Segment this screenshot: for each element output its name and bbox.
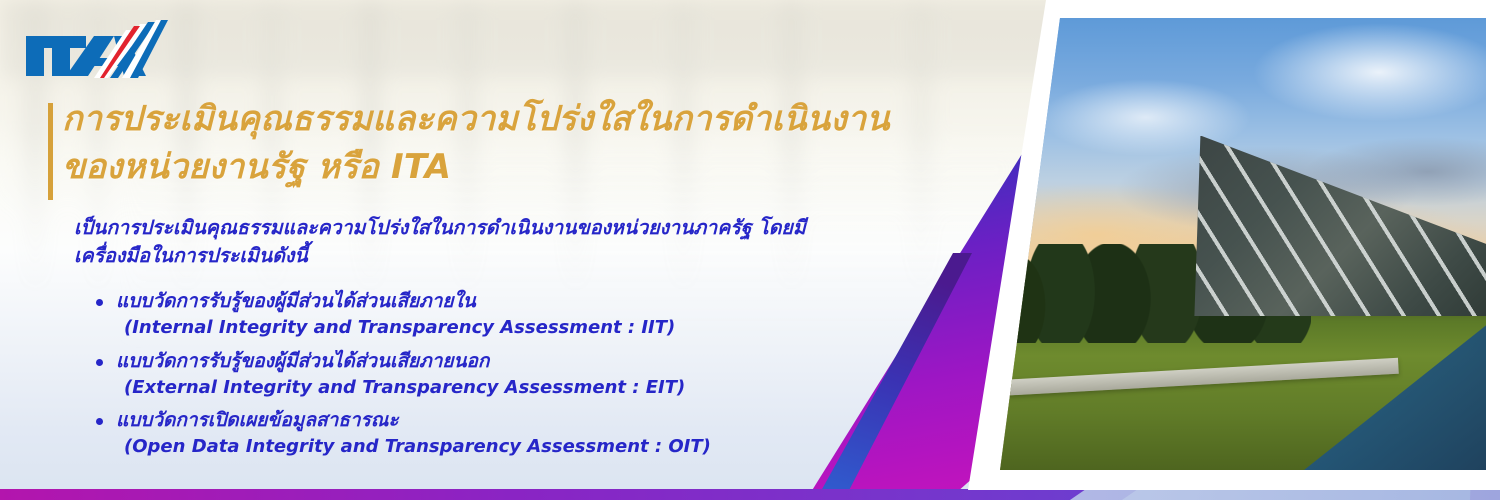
banner-content: การประเมินคุณธรรมและความโปร่งใสในการดำเน… bbox=[0, 0, 980, 500]
list-item: แบบวัดการเปิดเผยข้อมูลสาธารณะ (Open Data… bbox=[88, 407, 948, 461]
ita-banner: การประเมินคุณธรรมและความโปร่งใสในการดำเน… bbox=[0, 0, 1500, 500]
list-item-english: (Open Data Integrity and Transparency As… bbox=[116, 434, 948, 461]
ita-logo-mark bbox=[22, 18, 182, 84]
list-item-english: (External Integrity and Transparency Ass… bbox=[116, 375, 948, 402]
headline-line-2: ของหน่วยงานรัฐ หรือ ITA bbox=[62, 144, 982, 192]
lead-line-2: เครื่องมือในการประเมินดังนี้ bbox=[74, 242, 954, 270]
bottom-strip-right bbox=[1070, 489, 1500, 500]
list-item-thai: แบบวัดการเปิดเผยข้อมูลสาธารณะ bbox=[116, 407, 948, 434]
list-item: แบบวัดการรับรู้ของผู้มีส่วนได้ส่วนเสียภา… bbox=[88, 288, 948, 342]
lead-line-1: เป็นการประเมินคุณธรรมและความโปร่งใสในการ… bbox=[74, 214, 954, 242]
assessment-tool-list: แบบวัดการรับรู้ของผู้มีส่วนได้ส่วนเสียภา… bbox=[88, 288, 948, 467]
list-item-english: (Internal Integrity and Transparency Ass… bbox=[116, 315, 948, 342]
headline-line-1: การประเมินคุณธรรมและความโปร่งใสในการดำเน… bbox=[62, 96, 982, 144]
headline-accent-bar bbox=[48, 103, 53, 200]
ita-logo[interactable] bbox=[22, 18, 182, 84]
list-item-thai: แบบวัดการรับรู้ของผู้มีส่วนได้ส่วนเสียภา… bbox=[116, 288, 948, 315]
lead-paragraph: เป็นการประเมินคุณธรรมและความโปร่งใสในการ… bbox=[74, 214, 954, 271]
pyramid-building-sunset-photo bbox=[1000, 18, 1486, 470]
list-item: แบบวัดการรับรู้ของผู้มีส่วนได้ส่วนเสียภา… bbox=[88, 348, 948, 402]
list-item-thai: แบบวัดการรับรู้ของผู้มีส่วนได้ส่วนเสียภา… bbox=[116, 348, 948, 375]
page-title: การประเมินคุณธรรมและความโปร่งใสในการดำเน… bbox=[62, 96, 982, 191]
